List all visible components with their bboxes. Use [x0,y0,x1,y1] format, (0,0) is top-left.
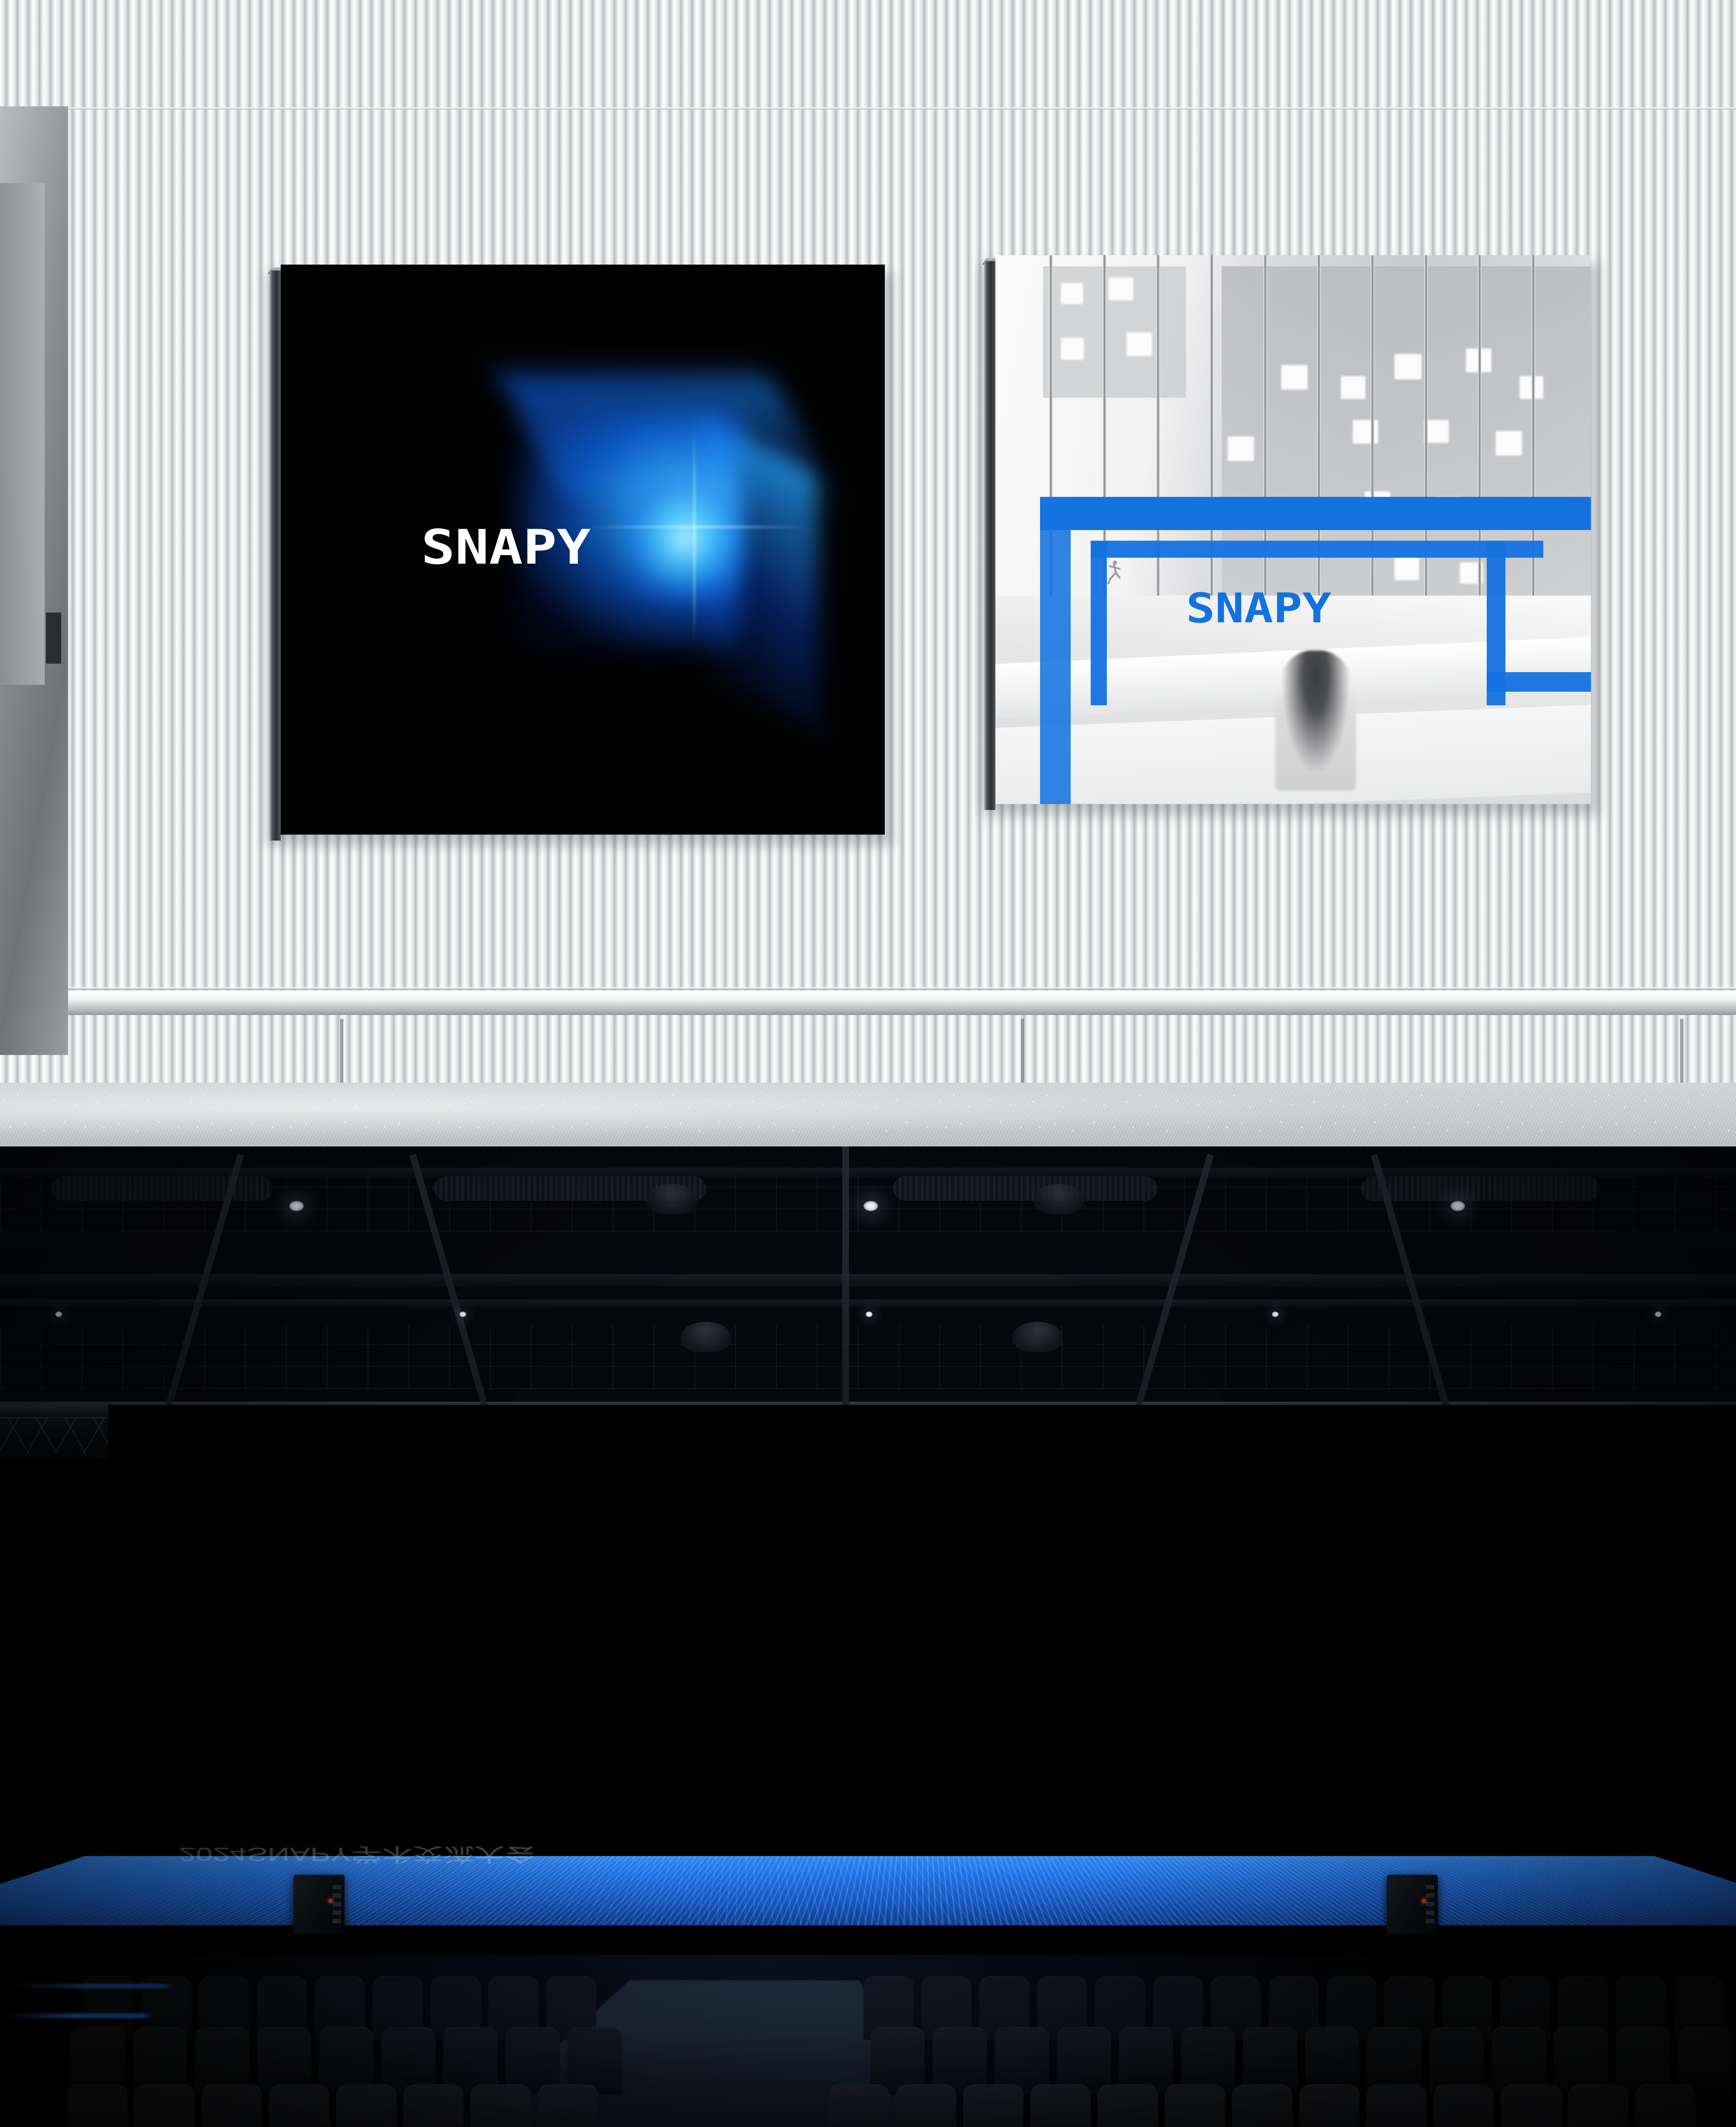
photo-light-square [1061,283,1083,304]
railing-post [340,1019,343,1087]
seat [67,2084,128,2127]
seat [0,2084,60,2127]
photo-light-square [1394,354,1422,379]
seat [1501,2084,1561,2127]
bracket-outer-top [1040,497,1591,530]
ceiling-light [459,1312,466,1317]
bracket-outer-left [1040,497,1071,804]
stage-spotlight [812,1444,842,1525]
photo-light-square [1353,420,1378,444]
seat [761,2084,822,2127]
stage-spotlight [367,1444,389,1498]
ceiling-light [55,1312,62,1317]
ceiling-duct [51,1176,272,1201]
ceiling-beam [0,1274,1736,1287]
ceiling-light [864,1201,878,1211]
seat [1434,2084,1494,2127]
screen-bracket-right [1023,1543,1117,1824]
blue-light-streak [13,1984,174,1988]
ceiling-pendant-fixture [647,1184,697,1215]
ceiling-light [1272,1312,1279,1317]
photo-light-square [1126,332,1152,356]
poster-left-artwork: SNAPY [281,265,885,835]
stage-spotlight [1151,1444,1180,1525]
seat [202,2084,262,2127]
stage-spotlight [983,1444,1005,1498]
stage-speaker [294,1875,345,1934]
stage-spotlight [915,1444,937,1498]
bracket-inner-left [1091,541,1107,705]
stage-spotlight [1455,1444,1485,1525]
ceiling-duct [893,1176,1157,1201]
seat [1232,2084,1292,2127]
photo-light-square [1281,365,1308,390]
poster-left-frame-edge [270,271,281,841]
seat [134,2084,195,2127]
exterior-wall-scene: SNAPY [0,0,1736,1146]
ceiling-beam [0,1300,1736,1307]
stage-spotlight [1051,1444,1073,1498]
ground-speckle-texture [0,1083,1736,1146]
seat [963,2084,1023,2127]
seat [1366,2084,1427,2127]
railing-post [1680,1019,1683,1087]
cube-core-glow [621,475,749,603]
stage-spotlight [541,1444,571,1525]
stage-spotlight [1327,1444,1349,1498]
seat [1635,2084,1696,2127]
seat [403,2084,464,2127]
screen-logo-text: SNAPY [172,1566,263,1596]
poster-left[interactable]: SNAPY [281,265,885,835]
ceiling-light [289,1201,304,1211]
cube-spark-horizontal [587,526,808,528]
photo-walking-woman [1275,650,1356,791]
stage-spotlight [1259,1444,1281,1498]
stage-deck-reflection-text: 2024SNAPY学术交流大会 [179,1838,1229,1870]
seat [269,2084,329,2127]
seat [336,2084,396,2127]
seat [1299,2084,1360,2127]
running-person-icon [1106,560,1123,585]
stage-spotlight [300,1444,322,1498]
stage-spotlight [1393,1444,1415,1498]
seat [896,2084,956,2127]
seat [1030,2084,1091,2127]
wall-ledge [0,990,1736,1016]
poster-left-logo-text: SNAPY [421,520,591,575]
stage-spotlight [1672,1444,1694,1498]
seat [1165,2084,1225,2127]
screen-title-line1: 2024 SNAPY [172,1731,964,1796]
seat [538,2084,598,2127]
poster-right-frame-edge [984,261,995,810]
railing-post [1021,1019,1024,1087]
seat [1568,2084,1628,2127]
ceiling-pendant-fixture [1034,1184,1084,1215]
photo-light-square [1341,376,1365,399]
ceiling-duct [1361,1176,1599,1201]
stage-spotlight [434,1444,456,1498]
stage-spotlight [642,1444,664,1498]
bracket-inner-top [1091,541,1543,558]
photo-light-square [1109,277,1133,300]
cube-spark-vertical [693,424,695,645]
seat [829,2084,889,2127]
poster-right-artwork: SNAPY [995,255,1591,804]
screen-portrait [1109,1437,1628,1862]
wall-slot [46,613,61,664]
ceiling-pendant-fixture [1012,1322,1063,1352]
blue-light-streak [4,2013,153,2018]
wall-recess-shadow [0,183,45,685]
photo-light-square [1394,557,1419,580]
poster-right-logo-text: SNAPY [1186,584,1331,632]
poster-brand-mockup-page: SNAPY [0,0,1736,2127]
ceiling-pendant-fixture [681,1322,731,1352]
screen-logo: SNAPY [172,1566,249,1596]
stage-spotlight [1574,1444,1596,1498]
seat [1097,2084,1158,2127]
ceiling-light [866,1312,872,1317]
portrait-left-fade [1109,1437,1628,1862]
auditorium-seating [0,1972,1736,2127]
stage-spotlight [162,1444,192,1525]
poster-right[interactable]: SNAPY [995,255,1591,804]
stage-spotlight [711,1444,733,1498]
auditorium-scene: SNAPY 2024 SNAPY Academic Exchange Confe… [0,1146,1736,2127]
photo-light-square [1061,338,1084,360]
ceiling-light [1655,1312,1662,1317]
ceiling-light [1451,1201,1465,1211]
stage-led-screen: SNAPY 2024 SNAPY Academic Exchange Confe… [108,1437,1628,1862]
stage-speaker [1387,1875,1438,1934]
photo-light-square [1496,431,1522,456]
wall-panel-lower [0,1015,1736,1087]
wall-panel-upper [0,0,1736,111]
bracket-inner-bottom [1487,672,1591,692]
ceiling-grid [0,1325,1736,1389]
seat [470,2084,531,2127]
photo-light-square [1228,436,1254,461]
